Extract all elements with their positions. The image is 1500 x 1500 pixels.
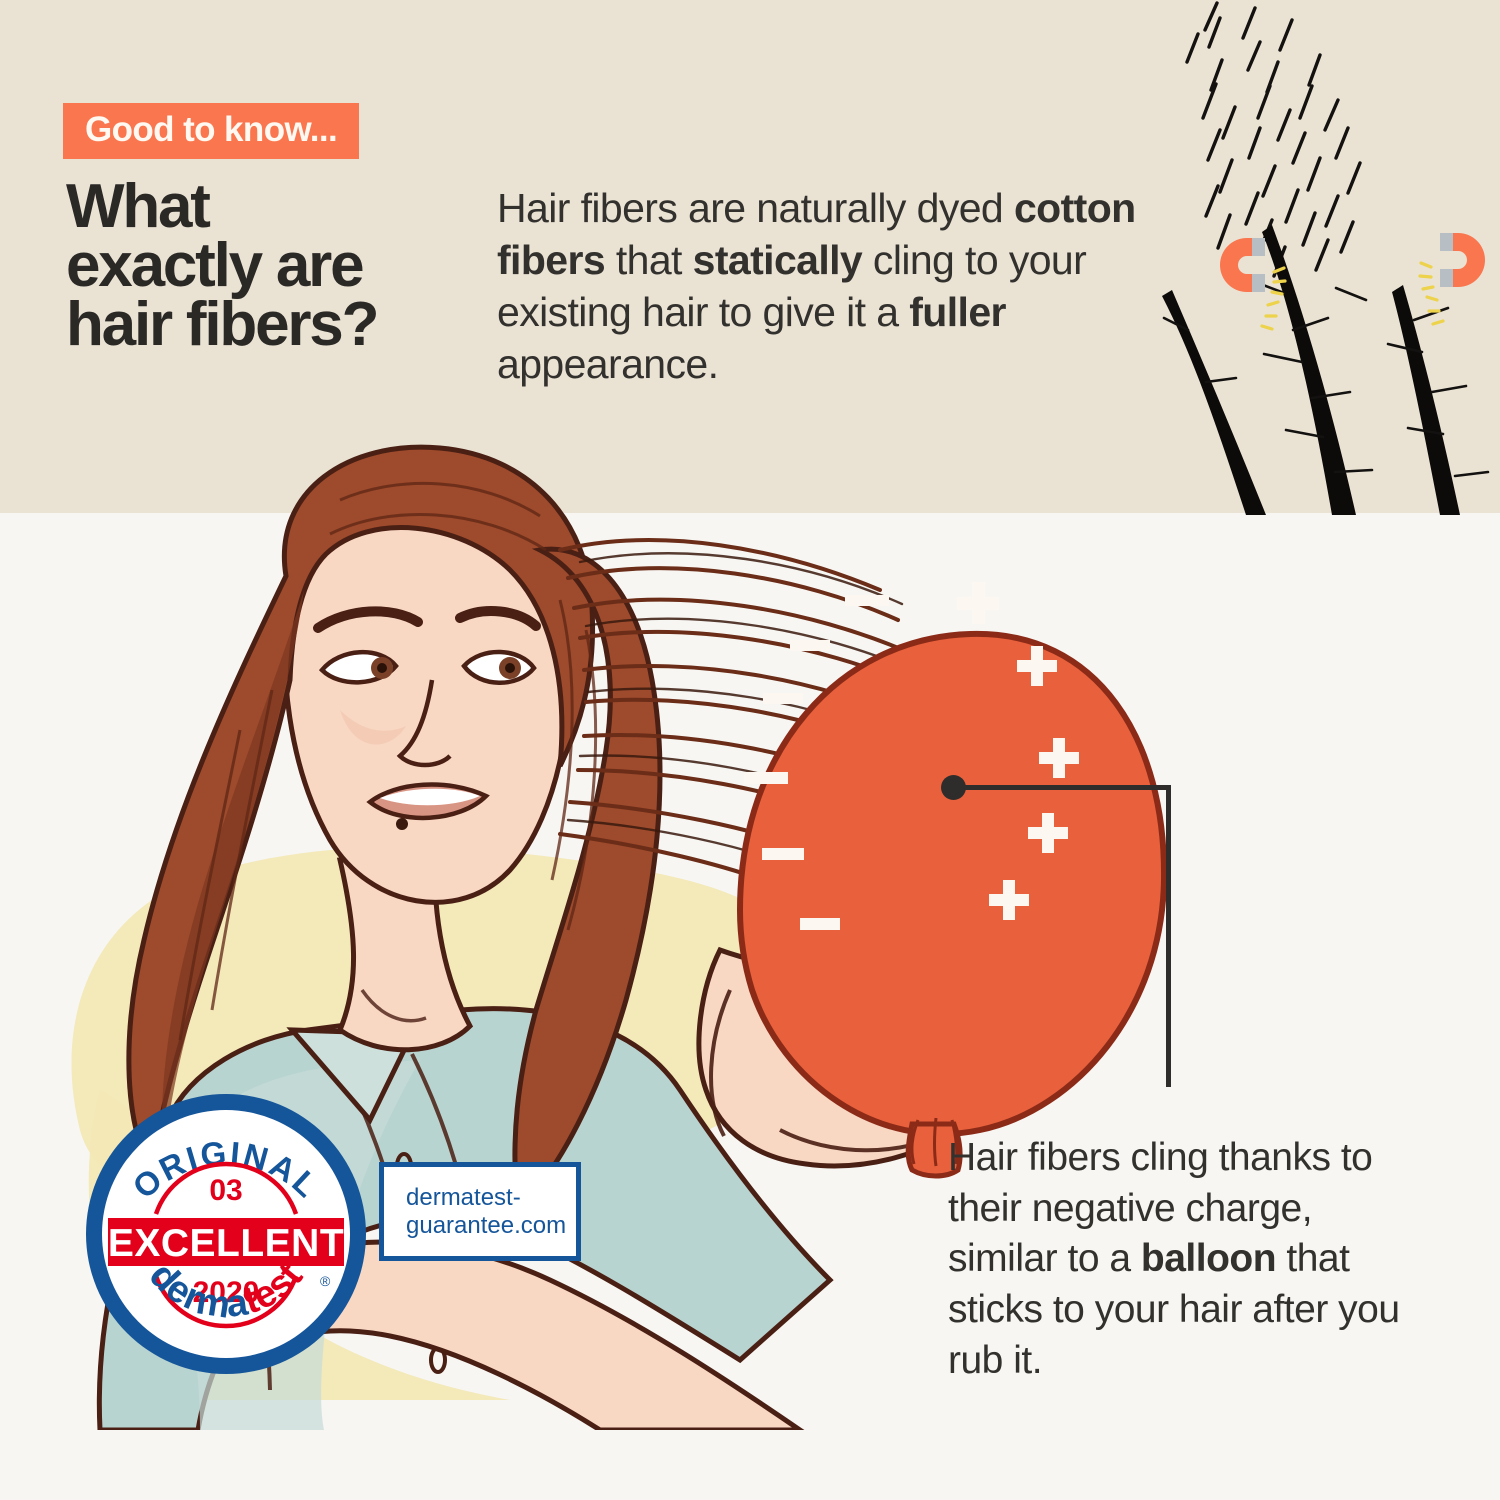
headline-line-3: hair fibers? xyxy=(66,296,486,355)
dermatest-url-box[interactable]: dermatest-guarantee.com xyxy=(379,1162,581,1261)
seal-rating-text: EXCELLENT xyxy=(108,1222,344,1265)
leader-line-vertical xyxy=(1166,785,1171,1087)
hair-magnet-illustration xyxy=(1160,0,1500,515)
eye-right xyxy=(464,652,534,683)
kicker-badge: Good to know... xyxy=(63,103,359,159)
hair-strands-group xyxy=(1162,225,1488,515)
headline-line-1: What xyxy=(66,178,486,237)
seal-registered-mark: ® xyxy=(320,1273,331,1289)
headline-line-2: exactly are xyxy=(66,237,486,296)
page-title: What exactly are hair fibers? xyxy=(66,178,486,355)
balloon-caption: Hair fibers cling thanks to their negati… xyxy=(948,1133,1418,1386)
leader-line-horizontal xyxy=(953,785,1171,790)
dermatest-url-text: dermatest-guarantee.com xyxy=(406,1184,566,1239)
beauty-mark xyxy=(396,818,408,830)
dermatest-seal[interactable]: ORIGINAL 03 EXCELLENT 2020 dermatest ® xyxy=(82,1090,370,1378)
magnet-icon-right xyxy=(1420,233,1485,324)
intro-paragraph: Hair fibers are naturally dyed cotton fi… xyxy=(497,182,1157,390)
infographic-canvas: Good to know... What exactly are hair fi… xyxy=(0,0,1500,1500)
seal-number: 03 xyxy=(209,1174,242,1207)
